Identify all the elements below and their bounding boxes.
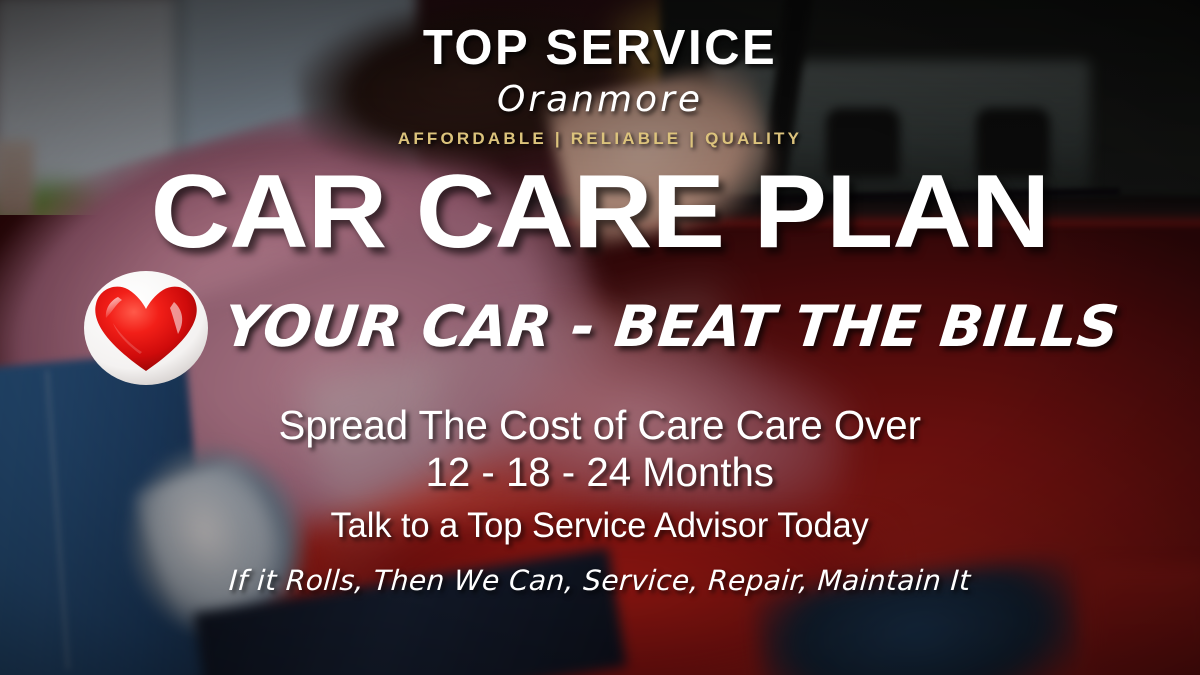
sub-headline-row: YOUR CAR - BEAT THE BILLS (82, 268, 1118, 386)
brand-location: Oranmore (497, 79, 703, 120)
offer-line-2: 12 - 18 - 24 Months (426, 449, 774, 496)
sub-headline: YOUR CAR - BEAT THE BILLS (220, 294, 1121, 360)
page-title: CAR CARE PLAN (151, 163, 1050, 262)
footer-tagline: If it Rolls, Then We Can, Service, Repai… (228, 564, 972, 597)
call-to-action: Talk to a Top Service Advisor Today (331, 506, 869, 546)
brand-tagline: AFFORDABLE | RELIABLE | QUALITY (398, 129, 802, 149)
offer-line-1: Spread The Cost of Care Care Over (279, 402, 921, 449)
heart-icon (82, 268, 210, 386)
car-care-plan-banner: TOP SERVICE Oranmore AFFORDABLE | RELIAB… (0, 0, 1200, 675)
brand-title: TOP SERVICE (423, 24, 777, 73)
banner-content: TOP SERVICE Oranmore AFFORDABLE | RELIAB… (0, 0, 1200, 675)
